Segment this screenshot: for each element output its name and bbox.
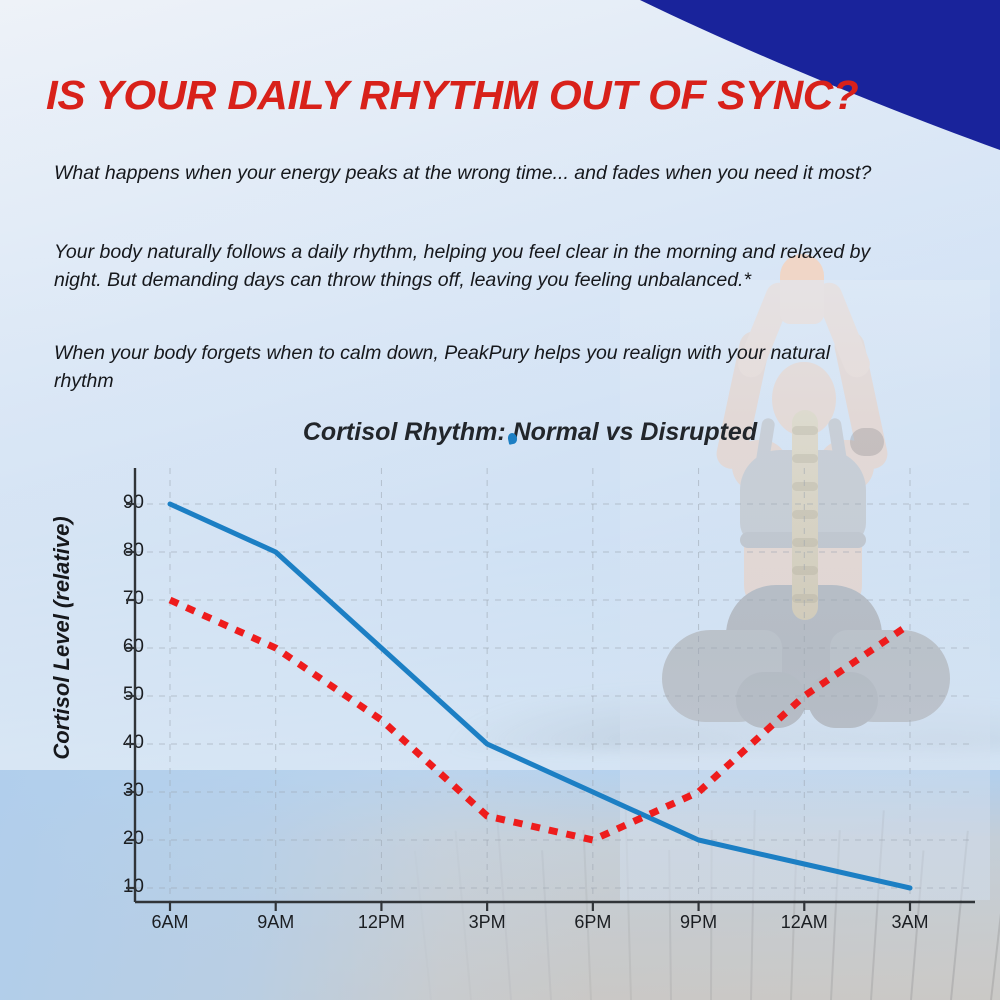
page-title: IS YOUR DAILY RHYTHM OUT OF SYNC? bbox=[46, 74, 973, 117]
intro-paragraph: What happens when your energy peaks at t… bbox=[54, 160, 874, 188]
cortisol-chart: Cortisol Rhythm: Normal vs Disrupted Cor… bbox=[0, 400, 1000, 960]
product-paragraph: When your body forgets when to calm down… bbox=[54, 340, 874, 395]
series-line-disrupted bbox=[170, 600, 910, 840]
body-paragraph: Your body naturally follows a daily rhyt… bbox=[54, 239, 874, 294]
plot-area bbox=[0, 400, 1000, 960]
infographic-page: IS YOUR DAILY RHYTHM OUT OF SYNC? What h… bbox=[0, 0, 1000, 1000]
